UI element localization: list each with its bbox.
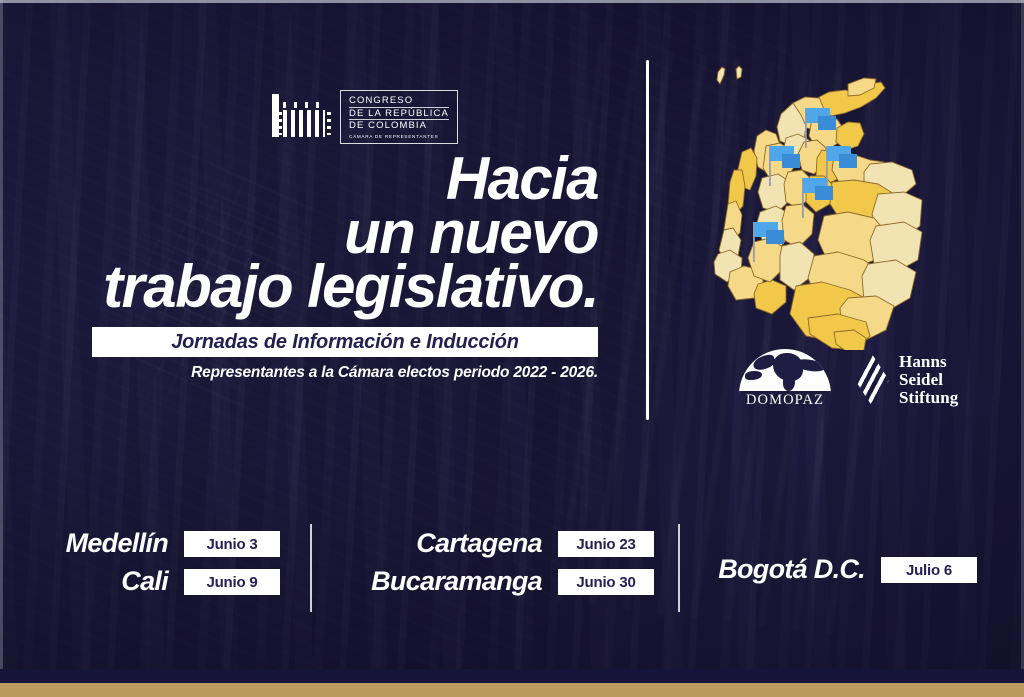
- congress-line-2: DE LA REPÚBLICA: [349, 108, 449, 121]
- gold-bottom-bar: [0, 683, 1024, 697]
- congress-line-4: CÁMARA DE REPRESENTANTES: [349, 134, 449, 140]
- domopaz-logo: DOMOPAZ: [735, 349, 835, 411]
- schedule-row: Medellín Junio 3: [38, 528, 292, 559]
- globe-landmass-2: [745, 371, 762, 380]
- headline-line-1: Hacia: [0, 152, 598, 206]
- colombia-map-svg: [700, 60, 935, 350]
- congress-logo: CONGRESO DE LA REPÚBLICA DE COLOMBIA CÁM…: [272, 90, 458, 144]
- emblem-dots-right: [327, 112, 331, 135]
- hanns-seidel-stiftung-logo: Hanns Seidel Stiftung: [855, 353, 958, 407]
- city-name: Cartagena: [330, 528, 542, 559]
- congress-wordmark: CONGRESO DE LA REPÚBLICA DE COLOMBIA CÁM…: [340, 90, 458, 144]
- bottom-navy-band: [0, 669, 1024, 683]
- island-san-andres: [717, 67, 725, 84]
- headline-line-2: un nuevo: [0, 206, 598, 260]
- poster-canvas: CONGRESO DE LA REPÚBLICA DE COLOMBIA CÁM…: [0, 0, 1024, 697]
- date-badge[interactable]: Julio 6: [881, 557, 977, 583]
- dept-caqueta-w: [780, 242, 814, 290]
- globe-icon: [739, 349, 831, 395]
- schedule-column-2: Cartagena Junio 23 Bucaramanga Junio 30: [330, 528, 660, 597]
- dept-norte-santander: [836, 122, 864, 150]
- hss-line-2: Seidel: [899, 371, 958, 389]
- date-badge[interactable]: Junio 23: [558, 531, 654, 557]
- hss-diamond-icon: [855, 354, 889, 406]
- emblem-columns: [283, 110, 325, 137]
- subtitle-note: Representantes a la Cámara electos perio…: [0, 364, 630, 382]
- schedule: Medellín Junio 3 Cali Junio 9 Cartagena …: [0, 524, 1024, 614]
- date-badge[interactable]: Junio 30: [558, 569, 654, 595]
- headline-line-3: trabajo legislativo.: [0, 260, 598, 314]
- schedule-row: Bogotá D.C. Julio 6: [700, 554, 1000, 585]
- schedule-column-3: Bogotá D.C. Julio 6: [700, 554, 1000, 585]
- globe-landmass-5: [783, 375, 795, 391]
- dept-huila: [782, 204, 814, 248]
- island-providencia: [736, 66, 742, 79]
- domopaz-wordmark: DOMOPAZ: [735, 392, 835, 409]
- emblem-birds: [283, 102, 325, 108]
- date-badge[interactable]: Junio 3: [184, 531, 280, 557]
- schedule-column-1: Medellín Junio 3 Cali Junio 9: [38, 528, 292, 597]
- vertical-divider-main: [646, 60, 649, 420]
- colombia-map: [700, 60, 935, 350]
- emblem-dots-left: [278, 112, 282, 135]
- partner-logos: DOMOPAZ Hanns Seidel Stiftung: [735, 348, 960, 412]
- dept-putumayo: [754, 280, 786, 314]
- hss-line-1: Hanns: [899, 353, 958, 371]
- schedule-row: Cartagena Junio 23: [330, 528, 660, 559]
- congress-columns-icon: [272, 90, 340, 140]
- congress-line-1: CONGRESO: [349, 95, 449, 108]
- schedule-row: Cali Junio 9: [38, 566, 292, 597]
- subtitle-bar: Jornadas de Información e Inducción: [92, 327, 598, 357]
- schedule-row: Bucaramanga Junio 30: [330, 566, 660, 597]
- city-name: Bucaramanga: [330, 566, 542, 597]
- city-name: Medellín: [38, 528, 168, 559]
- subtitle-text: Jornadas de Información e Inducción: [171, 331, 519, 354]
- page-title: Hacia un nuevo trabajo legislativo.: [0, 152, 630, 314]
- date-badge[interactable]: Junio 9: [184, 569, 280, 595]
- city-name: Bogotá D.C.: [700, 554, 865, 585]
- hss-line-3: Stiftung: [899, 389, 958, 407]
- top-edge: [0, 0, 1024, 3]
- congress-line-3: DE COLOMBIA: [349, 120, 449, 132]
- city-name: Cali: [38, 566, 168, 597]
- hss-wordmark: Hanns Seidel Stiftung: [899, 353, 958, 407]
